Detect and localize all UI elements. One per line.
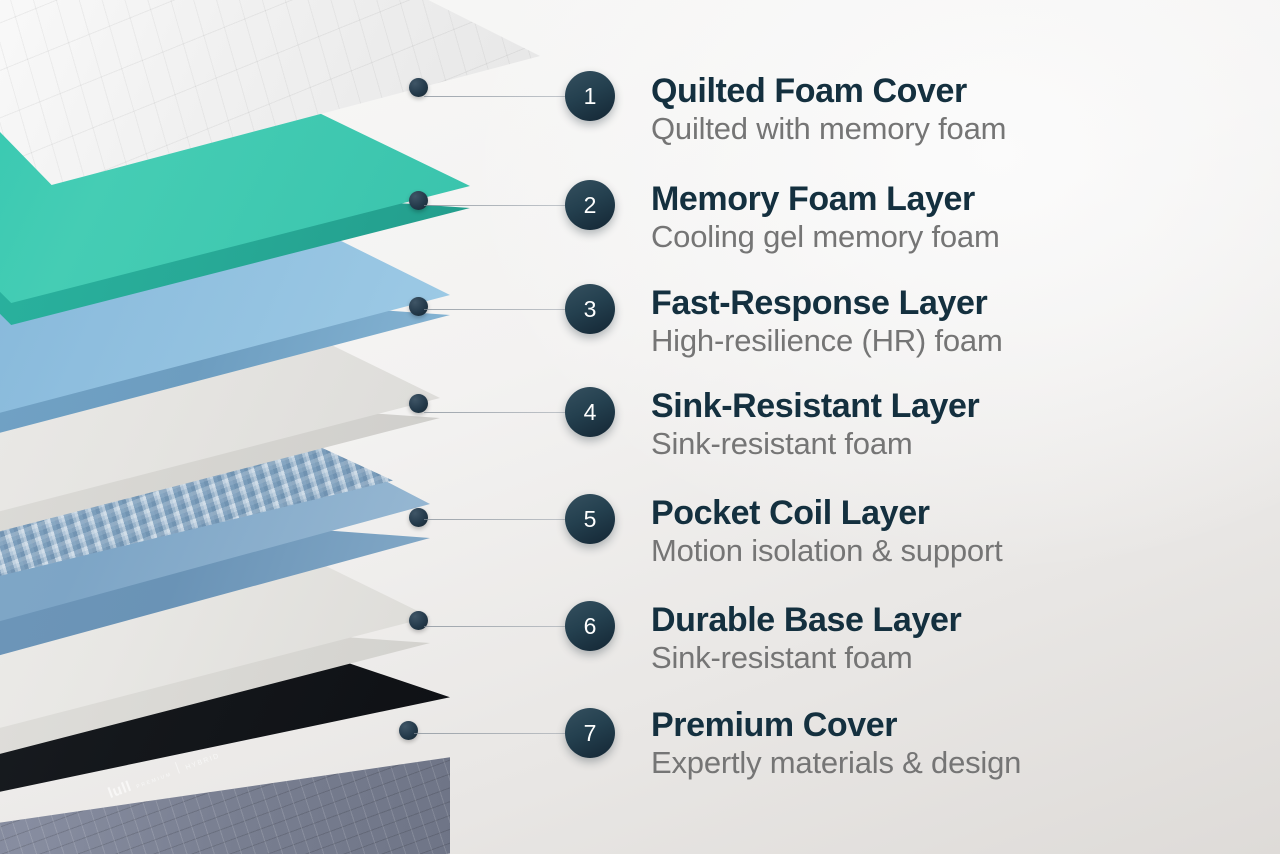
mattress-artwork: lull PREMIUM HYBRID	[0, 0, 600, 854]
callout-leader-7	[414, 733, 565, 734]
callout-subtitle-2: Cooling gel memory foam	[651, 220, 1000, 253]
callout-subtitle-4: Sink-resistant foam	[651, 427, 979, 460]
callout-subtitle-3: High-resilience (HR) foam	[651, 324, 1003, 357]
callout-badge-4[interactable]: 4	[565, 387, 615, 437]
callout-entry-2: Memory Foam Layer Cooling gel memory foa…	[651, 182, 1000, 253]
callout-dot-4	[409, 394, 428, 413]
brand-variant: HYBRID	[185, 752, 221, 771]
callout-dot-6	[409, 611, 428, 630]
mattress-layer-diagram: lull PREMIUM HYBRID	[0, 0, 1280, 854]
callout-title-6: Durable Base Layer	[651, 603, 961, 638]
callout-entry-7: Premium Cover Expertly materials & desig…	[651, 708, 1021, 779]
callout-title-4: Sink-Resistant Layer	[651, 389, 979, 424]
callout-dot-7	[399, 721, 418, 740]
callout-entry-6: Durable Base Layer Sink-resistant foam	[651, 603, 961, 674]
brand-sub: PREMIUM	[136, 771, 173, 790]
callout-entry-4: Sink-Resistant Layer Sink-resistant foam	[651, 389, 979, 460]
brand-divider	[175, 762, 180, 774]
callout-subtitle-1: Quilted with memory foam	[651, 112, 1006, 145]
callout-dot-2	[409, 191, 428, 210]
slab-top-quilted	[0, 0, 540, 185]
callout-leader-1	[424, 96, 565, 97]
callout-dot-5	[409, 508, 428, 527]
brand-mark: lull	[106, 778, 134, 802]
callout-badge-1[interactable]: 1	[565, 71, 615, 121]
callout-entry-3: Fast-Response Layer High-resilience (HR)…	[651, 286, 1003, 357]
callout-title-2: Memory Foam Layer	[651, 182, 1000, 217]
layer-graphic-quilted-cover	[0, 0, 540, 185]
callout-subtitle-5: Motion isolation & support	[651, 534, 1003, 567]
callout-title-5: Pocket Coil Layer	[651, 496, 1003, 531]
callout-leader-4	[424, 412, 565, 413]
callout-subtitle-7: Expertly materials & design	[651, 746, 1021, 779]
callout-badge-7[interactable]: 7	[565, 708, 615, 758]
callout-badge-5[interactable]: 5	[565, 494, 615, 544]
callout-badge-3[interactable]: 3	[565, 284, 615, 334]
callout-badge-6[interactable]: 6	[565, 601, 615, 651]
callout-badge-2[interactable]: 2	[565, 180, 615, 230]
callout-title-1: Quilted Foam Cover	[651, 74, 1006, 109]
callout-leader-6	[424, 626, 565, 627]
callout-leader-3	[424, 309, 565, 310]
callout-subtitle-6: Sink-resistant foam	[651, 641, 961, 674]
callout-dot-3	[409, 297, 428, 316]
callout-entry-5: Pocket Coil Layer Motion isolation & sup…	[651, 496, 1003, 567]
callout-title-7: Premium Cover	[651, 708, 1021, 743]
callout-leader-5	[424, 519, 565, 520]
callout-title-3: Fast-Response Layer	[651, 286, 1003, 321]
callout-leader-2	[424, 205, 565, 206]
callout-entry-1: Quilted Foam Cover Quilted with memory f…	[651, 74, 1006, 145]
callout-dot-1	[409, 78, 428, 97]
